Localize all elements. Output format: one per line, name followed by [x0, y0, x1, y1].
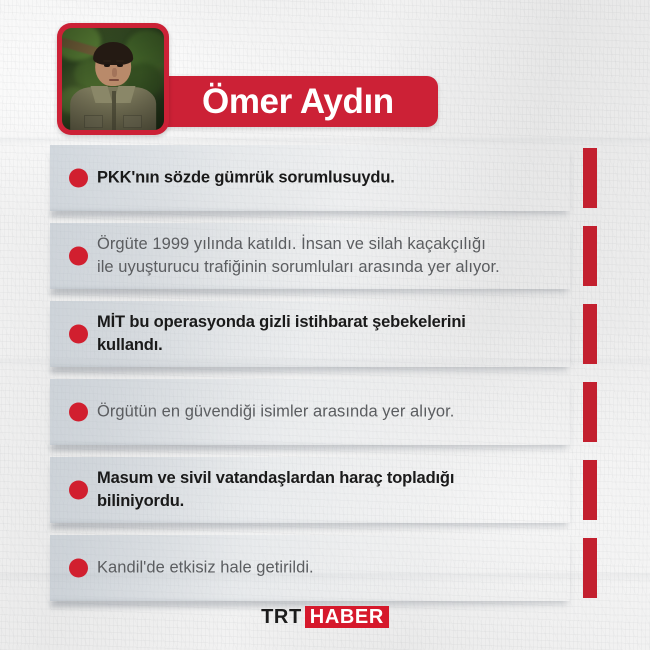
accent-bar — [583, 538, 597, 598]
bullet-dot-icon — [69, 559, 88, 578]
list-item: PKK'nın sözde gümrük sorumlusuydu. — [0, 145, 650, 211]
accent-bar — [583, 460, 597, 520]
bullet-dot-icon — [69, 247, 88, 266]
header: Ömer Aydın — [0, 0, 650, 145]
fact-list: PKK'nın sözde gümrük sorumlusuydu. Örgüt… — [0, 145, 650, 613]
list-item: Örgüte 1999 yılında katıldı. İnsan ve si… — [0, 223, 650, 289]
portrait-photo — [62, 28, 164, 130]
accent-bar — [583, 382, 597, 442]
logo-trt-text: TRT — [261, 606, 305, 628]
infographic-canvas: Ömer Aydın PKK'nın sözde gümrük sorumlus… — [0, 0, 650, 650]
list-item-text: MİT bu operasyonda gizli istihbarat şebe… — [97, 311, 549, 357]
logo-haber-text: HABER — [305, 606, 389, 628]
person-name: Ömer Aydın — [202, 84, 394, 119]
bullet-dot-icon — [69, 403, 88, 422]
portrait-frame — [57, 23, 169, 135]
trt-haber-logo: TRT HABER — [261, 606, 389, 628]
list-item: Kandil'de etkisiz hale getirildi. — [0, 535, 650, 601]
bullet-dot-icon — [69, 325, 88, 344]
accent-bar — [583, 226, 597, 286]
list-item-text: Örgüte 1999 yılında katıldı. İnsan ve si… — [97, 233, 549, 279]
list-item-text: PKK'nın sözde gümrük sorumlusuydu. — [97, 167, 549, 190]
accent-bar — [583, 148, 597, 208]
bullet-dot-icon — [69, 169, 88, 188]
list-item: Örgütün en güvendiği isimler arasında ye… — [0, 379, 650, 445]
list-item: Masum ve sivil vatandaşlardan haraç topl… — [0, 457, 650, 523]
footer: TRT HABER — [0, 606, 650, 628]
list-item-text: Örgütün en güvendiği isimler arasında ye… — [97, 401, 549, 424]
list-item-text: Masum ve sivil vatandaşlardan haraç topl… — [97, 467, 549, 513]
list-item: MİT bu operasyonda gizli istihbarat şebe… — [0, 301, 650, 367]
bullet-dot-icon — [69, 481, 88, 500]
list-item-text: Kandil'de etkisiz hale getirildi. — [97, 557, 549, 580]
accent-bar — [583, 304, 597, 364]
name-banner: Ömer Aydın — [130, 76, 438, 127]
